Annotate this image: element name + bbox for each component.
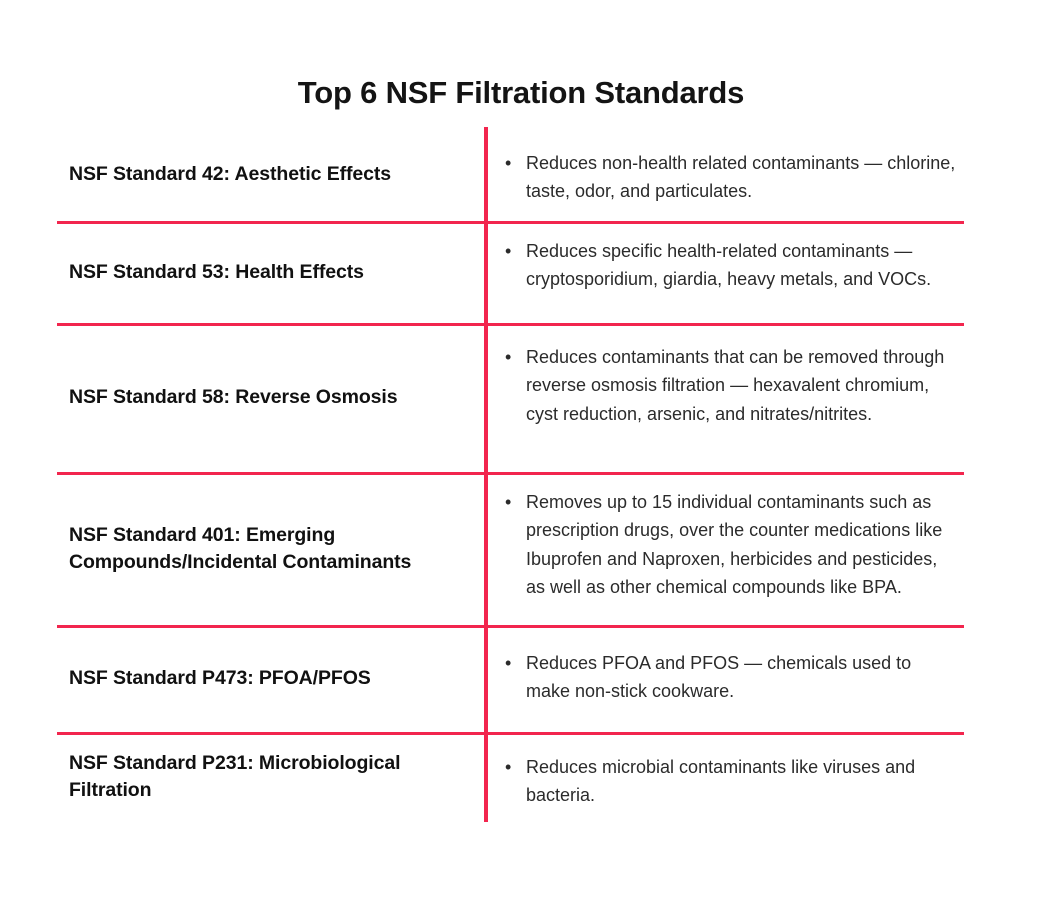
standard-description-cell: • Reduces PFOA and PFOS — chemicals used…	[504, 649, 959, 706]
standard-name-cell: NSF Standard P231: Microbiological Filtr…	[69, 732, 469, 822]
bullet-icon: •	[505, 237, 511, 265]
list-item: • Reduces microbial contaminants like vi…	[526, 753, 959, 810]
bullet-icon: •	[505, 488, 511, 516]
bullet-icon: •	[505, 149, 511, 177]
standard-description: Reduces PFOA and PFOS — chemicals used t…	[526, 653, 911, 701]
standard-description-cell: • Reduces microbial contaminants like vi…	[504, 753, 959, 810]
table-row: NSF Standard P473: PFOA/PFOS • Reduces P…	[57, 625, 964, 732]
list-item: • Reduces contaminants that can be remov…	[526, 343, 959, 428]
standard-description: Removes up to 15 individual contaminants…	[526, 492, 942, 597]
table-row: NSF Standard 58: Reverse Osmosis • Reduc…	[57, 323, 964, 472]
table-row: NSF Standard 401: Emerging Compounds/Inc…	[57, 472, 964, 625]
standard-name: NSF Standard P231: Microbiological Filtr…	[69, 750, 469, 803]
standard-description-cell: • Removes up to 15 individual contaminan…	[504, 488, 959, 601]
bullet-icon: •	[505, 343, 511, 371]
standard-description-cell: • Reduces specific health-related contam…	[504, 237, 959, 294]
standard-name-cell: NSF Standard 42: Aesthetic Effects	[69, 127, 469, 221]
nsf-standards-infographic: Top 6 NSF Filtration Standards NSF Stand…	[0, 0, 1042, 902]
standard-name-cell: NSF Standard 401: Emerging Compounds/Inc…	[69, 472, 469, 625]
standard-name-cell: NSF Standard 58: Reverse Osmosis	[69, 323, 469, 472]
standard-description: Reduces microbial contaminants like viru…	[526, 757, 915, 805]
standard-name-cell: NSF Standard 53: Health Effects	[69, 221, 469, 323]
list-item: • Reduces specific health-related contam…	[526, 237, 959, 294]
bullet-icon: •	[505, 649, 511, 677]
standard-name: NSF Standard P473: PFOA/PFOS	[69, 665, 371, 692]
page-title: Top 6 NSF Filtration Standards	[0, 74, 1042, 111]
standard-name: NSF Standard 42: Aesthetic Effects	[69, 161, 391, 188]
bullet-icon: •	[505, 753, 511, 781]
list-item: • Reduces non-health related contaminant…	[526, 149, 959, 206]
standard-description: Reduces contaminants that can be removed…	[526, 347, 944, 424]
standards-table: NSF Standard 42: Aesthetic Effects • Red…	[57, 127, 964, 822]
table-row: NSF Standard P231: Microbiological Filtr…	[57, 732, 964, 822]
standard-description-cell: • Reduces contaminants that can be remov…	[504, 343, 959, 428]
standard-name: NSF Standard 401: Emerging Compounds/Inc…	[69, 522, 469, 575]
standard-name-cell: NSF Standard P473: PFOA/PFOS	[69, 625, 469, 732]
list-item: • Reduces PFOA and PFOS — chemicals used…	[526, 649, 959, 706]
standard-description: Reduces specific health-related contamin…	[526, 241, 931, 289]
standard-name: NSF Standard 58: Reverse Osmosis	[69, 384, 397, 411]
standard-description-cell: • Reduces non-health related contaminant…	[504, 149, 959, 206]
table-row: NSF Standard 53: Health Effects • Reduce…	[57, 221, 964, 323]
list-item: • Removes up to 15 individual contaminan…	[526, 488, 959, 601]
standard-description: Reduces non-health related contaminants …	[526, 153, 955, 201]
standard-name: NSF Standard 53: Health Effects	[69, 259, 364, 286]
table-row: NSF Standard 42: Aesthetic Effects • Red…	[57, 127, 964, 221]
